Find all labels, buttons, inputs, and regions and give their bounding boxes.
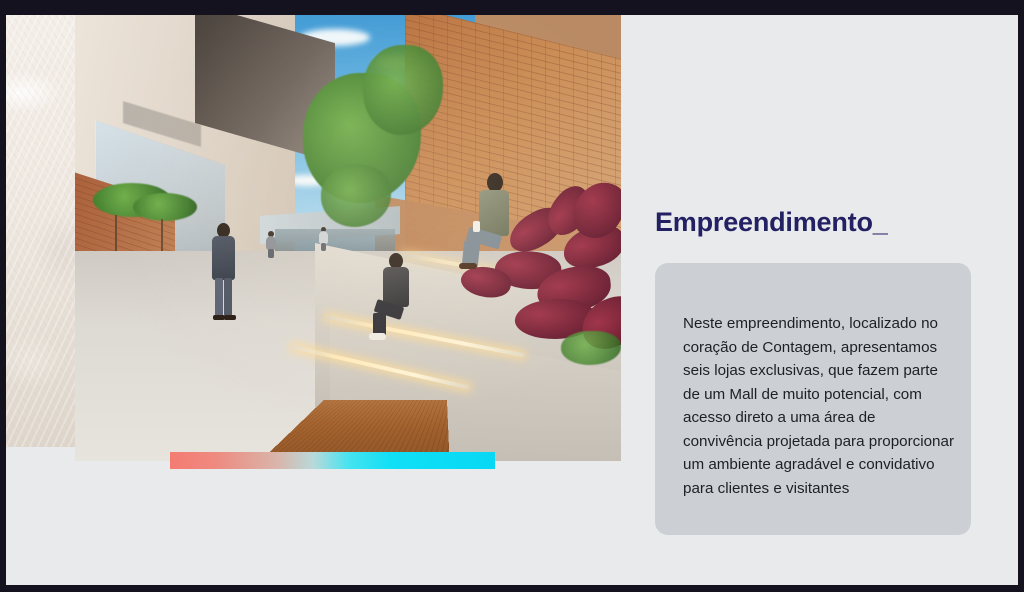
- content-column: Empreendimento_ Neste empreendimento, lo…: [649, 15, 1018, 585]
- person-seated-upper: [465, 173, 525, 263]
- description-text: Neste empreendimento, localizado no cora…: [683, 312, 958, 500]
- person-walking: [207, 223, 241, 321]
- hedge: [133, 193, 197, 221]
- texture-strip: [6, 15, 86, 447]
- person-distant: [265, 231, 277, 257]
- accent-gradient-bar: [170, 452, 495, 469]
- person-distant: [318, 227, 329, 251]
- person-seated-lower: [375, 253, 423, 341]
- description-card: Neste empreendimento, localizado no cora…: [655, 263, 971, 535]
- page-title: Empreendimento_: [655, 207, 888, 238]
- slide-canvas: Empreendimento_ Neste empreendimento, lo…: [6, 15, 1018, 585]
- hero-image: [75, 15, 621, 461]
- presentation-viewer: Empreendimento_ Neste empreendimento, lo…: [0, 0, 1024, 592]
